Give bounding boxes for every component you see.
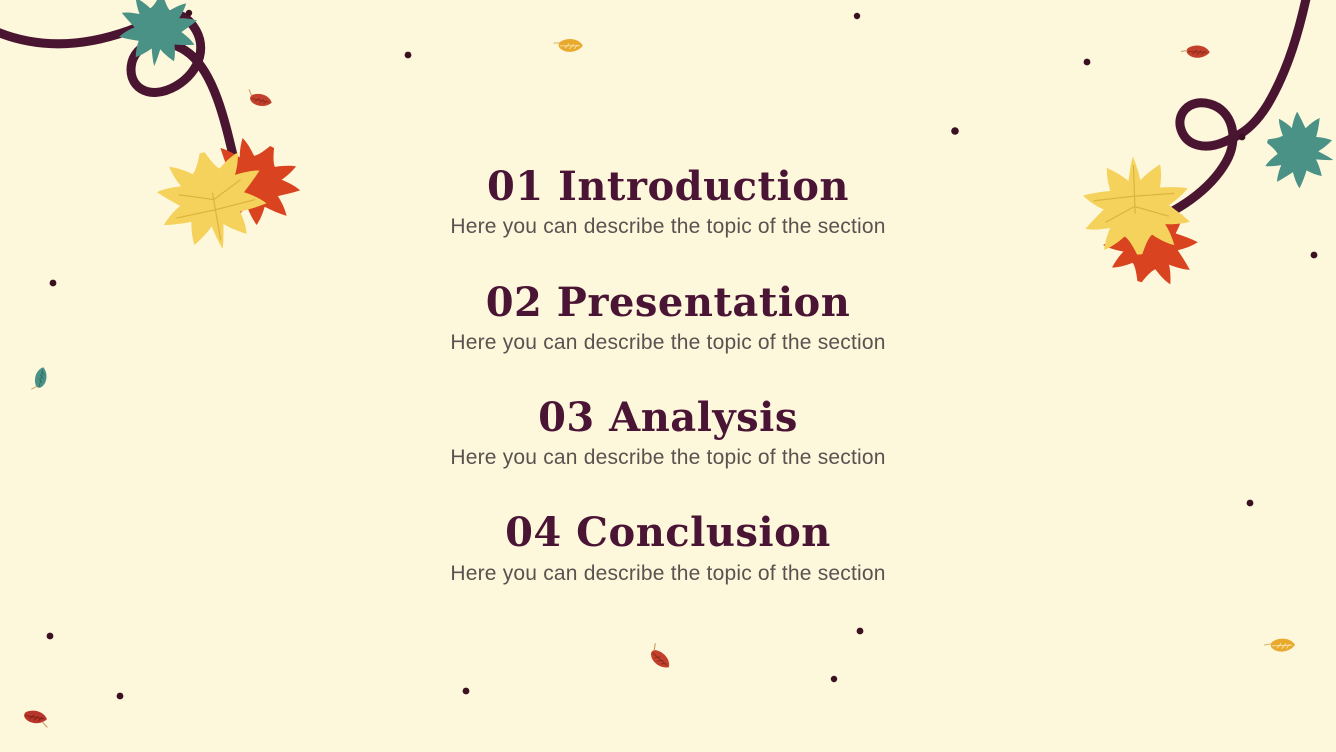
agenda-item-description: Here you can describe the topic of the s… [0, 445, 1336, 471]
agenda-item-title: 03 Analysis [0, 396, 1336, 439]
agenda-item-conclusion[interactable]: 04 Conclusion Here you can describe the … [0, 511, 1336, 586]
agenda-item-analysis[interactable]: 03 Analysis Here you can describe the to… [0, 396, 1336, 471]
agenda-item-presentation[interactable]: 02 Presentation Here you can describe th… [0, 281, 1336, 356]
agenda-list: 01 Introduction Here you can describe th… [0, 0, 1336, 752]
agenda-item-introduction[interactable]: 01 Introduction Here you can describe th… [0, 165, 1336, 240]
presentation-slide: 01 Introduction Here you can describe th… [0, 0, 1336, 752]
agenda-item-description: Here you can describe the topic of the s… [0, 561, 1336, 587]
agenda-item-description: Here you can describe the topic of the s… [0, 214, 1336, 240]
agenda-item-title: 04 Conclusion [0, 511, 1336, 554]
agenda-item-title: 01 Introduction [0, 165, 1336, 208]
agenda-item-description: Here you can describe the topic of the s… [0, 330, 1336, 356]
agenda-item-title: 02 Presentation [0, 281, 1336, 324]
